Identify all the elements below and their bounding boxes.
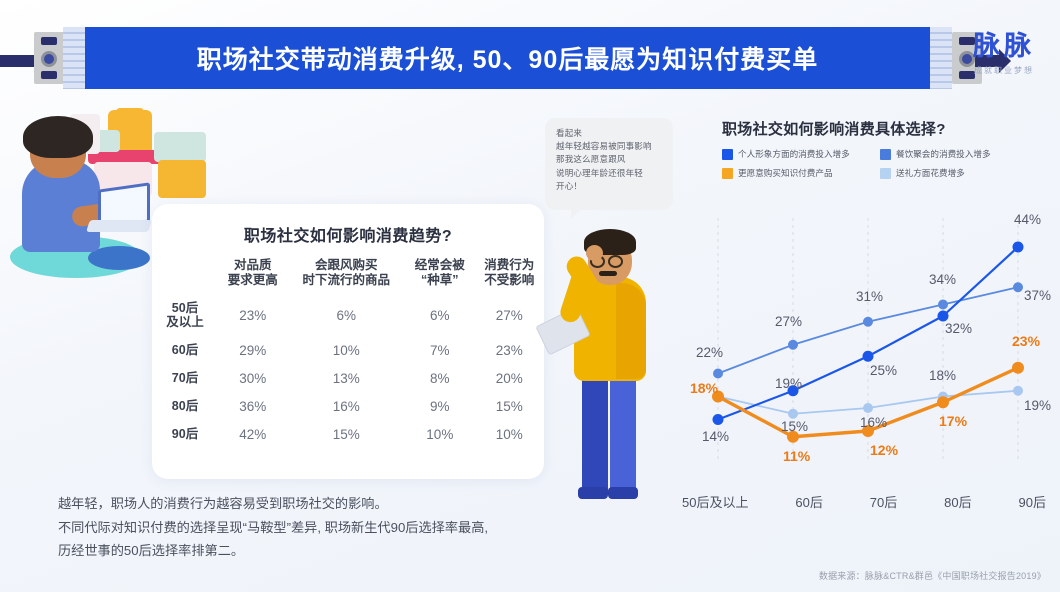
- data-point-label: 19%: [1024, 398, 1051, 413]
- data-point-label: 19%: [775, 376, 802, 391]
- man-leg-left: [582, 370, 608, 498]
- data-point-label: 14%: [702, 429, 729, 444]
- table-cell: 13%: [287, 364, 405, 392]
- legend-label: 送礼方面花费增多: [896, 167, 965, 179]
- table-row-label: 90后: [152, 420, 218, 448]
- legend-swatch-icon: [722, 168, 733, 179]
- person-hair: [23, 116, 93, 158]
- table-cell: 27%: [475, 295, 544, 337]
- chart-series-points: [712, 242, 1024, 443]
- conclusion-line-3: 历经世事的50后选择率排第二。: [58, 539, 628, 563]
- table-cell: 8%: [405, 364, 474, 392]
- table-row: 60后 29% 10% 7% 23%: [152, 336, 544, 364]
- consumption-trend-table: 对品质 要求更高 会跟风购买 时下流行的商品 经常会被 “种草” 消费行为 不受…: [152, 258, 544, 448]
- table-cell: 9%: [405, 392, 474, 420]
- table-cell: 10%: [287, 336, 405, 364]
- data-point-label: 22%: [696, 345, 723, 360]
- data-point-label: 44%: [1014, 212, 1041, 227]
- x-axis-tick: 60后: [795, 492, 822, 511]
- data-point-label: 18%: [929, 368, 956, 383]
- data-source-note: 数据来源：脉脉&CTR&群邑《中国职场社交报告2019》: [819, 569, 1046, 582]
- data-point-label: 18%: [690, 380, 718, 396]
- speech-bubble-text: 看起来 越年轻越容易被同事影响 那我这么愿意跟风 说明心理年龄还很年轻 开心！: [556, 127, 664, 193]
- table-row: 70后 30% 13% 8% 20%: [152, 364, 544, 392]
- x-axis-tick: 70后: [870, 492, 897, 511]
- table-cell: 36%: [218, 392, 287, 420]
- consumption-trend-table-card: 职场社交如何影响消费趋势? 对品质 要求更高 会跟风购买 时下流行的商品 经常会…: [152, 204, 544, 479]
- legend-swatch-icon: [880, 168, 891, 179]
- data-point-label: 32%: [945, 321, 972, 336]
- table-cell: 10%: [475, 420, 544, 448]
- legend-label: 更愿意购买知识付费产品: [738, 167, 833, 179]
- legend-swatch-icon: [722, 149, 733, 160]
- conclusion-line-2: 不同代际对知识付费的选择呈现“马鞍型”差异, 职场新生代90后选择率最高,: [58, 516, 628, 540]
- data-point-label: 37%: [1024, 288, 1051, 303]
- logo-tagline: 成就职业梦想: [956, 65, 1052, 76]
- chart-legend: 个人形象方面的消费投入增多 餐饮聚会的消费投入增多 更愿意购买知识付费产品 送礼…: [722, 148, 1052, 179]
- banner-bar: 职场社交带动消费升级, 50、90后最愿为知识付费买单: [85, 27, 930, 89]
- table-cell: 6%: [405, 295, 474, 337]
- legend-item-personal-image: 个人形象方面的消费投入增多: [722, 148, 880, 160]
- x-axis-tick: 90后: [1019, 492, 1046, 511]
- legend-label: 餐饮聚会的消费投入增多: [896, 148, 991, 160]
- x-axis-tick: 80后: [944, 492, 971, 511]
- line-chart: 15%16%18%19%22%27%31%34%37%14%19%25%32%4…: [676, 196, 1052, 526]
- ribbon-fold-right: [930, 27, 952, 89]
- table-row-label: 60后: [152, 336, 218, 364]
- data-point-label: 31%: [856, 289, 883, 304]
- table-cell: 7%: [405, 336, 474, 364]
- table-col-header-2: 经常会被 “种草”: [405, 258, 474, 295]
- table-row-label: 70后: [152, 364, 218, 392]
- brand-logo: 脉脉 成就职业梦想: [956, 24, 1052, 76]
- table-cell: 42%: [218, 420, 287, 448]
- col-header-line1: 经常会被 “种草”: [407, 258, 472, 289]
- table-cell: 29%: [218, 336, 287, 364]
- x-axis-tick: 50后及以上: [682, 492, 748, 511]
- data-point-label: 12%: [870, 442, 898, 458]
- data-point-label: 25%: [870, 363, 897, 378]
- col-header-line1: 对品质 要求更高: [220, 258, 285, 289]
- data-point-label: 27%: [775, 314, 802, 329]
- legend-item-knowledge-payment: 更愿意购买知识付费产品: [722, 167, 880, 179]
- data-point-label: 17%: [939, 413, 967, 429]
- table-header-row: 对品质 要求更高 会跟风购买 时下流行的商品 经常会被 “种草” 消费行为 不受…: [152, 258, 544, 295]
- glasses-icon: [608, 255, 623, 268]
- table-col-header-1: 会跟风购买 时下流行的商品: [287, 258, 405, 295]
- table-cell: 20%: [475, 364, 544, 392]
- conclusion-text: 越年轻，职场人的消费行为越容易受到职场社交的影响。 不同代际对知识付费的选择呈现…: [58, 492, 628, 563]
- speech-bubble: 看起来 越年轻越容易被同事影响 那我这么愿意跟风 说明心理年龄还很年轻 开心！: [545, 118, 673, 210]
- table-cell: 23%: [475, 336, 544, 364]
- infographic-page: 职场社交带动消费升级, 50、90后最愿为知识付费买单 脉脉 成就职业梦想: [0, 0, 1060, 592]
- table-cell: 10%: [405, 420, 474, 448]
- table-cell: 15%: [475, 392, 544, 420]
- page-title: 职场社交带动消费升级, 50、90后最愿为知识付费买单: [197, 40, 819, 76]
- man-body-shade: [616, 283, 646, 379]
- legend-item-dining: 餐饮聚会的消费投入增多: [880, 148, 1052, 160]
- table-cell: 6%: [287, 295, 405, 337]
- chart-title: 职场社交如何影响消费具体选择?: [722, 118, 946, 139]
- ribbon-fold-left: [63, 27, 85, 89]
- table-cell: 15%: [287, 420, 405, 448]
- header-banner: 职场社交带动消费升级, 50、90后最愿为知识付费买单: [0, 18, 1060, 96]
- table-col-header-0: 对品质 要求更高: [218, 258, 287, 295]
- legend-swatch-icon: [880, 149, 891, 160]
- data-point-label: 15%: [781, 419, 808, 434]
- conclusion-line-1: 越年轻，职场人的消费行为越容易受到职场社交的影响。: [58, 492, 628, 516]
- man-hand: [586, 245, 603, 261]
- table-corner-cell: [152, 258, 218, 295]
- table-title: 职场社交如何影响消费趋势?: [152, 222, 544, 246]
- data-point-label: 16%: [860, 415, 887, 430]
- man-mustache: [599, 271, 617, 276]
- table-cell: 23%: [218, 295, 287, 337]
- table-row: 80后 36% 16% 9% 15%: [152, 392, 544, 420]
- table-row: 50后 及以上 23% 6% 6% 27%: [152, 295, 544, 337]
- legend-label: 个人形象方面的消费投入增多: [738, 148, 850, 160]
- logo-name: 脉脉: [956, 24, 1052, 63]
- illustration-man-with-tablet: [538, 215, 668, 500]
- table-row: 90后 42% 15% 10% 10%: [152, 420, 544, 448]
- man-leg-right: [610, 370, 636, 498]
- table-cell: 30%: [218, 364, 287, 392]
- chart-svg: [676, 196, 1052, 496]
- ribbon-knob-left-icon: [41, 51, 57, 67]
- laptop-base-icon: [86, 220, 152, 232]
- table-col-header-3: 消费行为 不受影响: [475, 258, 544, 295]
- col-header-line1: 会跟风购买 时下流行的商品: [289, 258, 403, 289]
- data-point-label: 11%: [783, 448, 810, 464]
- data-point-label: 23%: [1012, 333, 1040, 349]
- data-point-label: 34%: [929, 272, 956, 287]
- col-header-line1: 消费行为 不受影响: [477, 258, 542, 289]
- legend-item-gifting: 送礼方面花费增多: [880, 167, 1052, 179]
- table-cell: 16%: [287, 392, 405, 420]
- table-row-label: 50后 及以上: [152, 295, 218, 337]
- chart-x-axis-labels: 50后及以上 60后 70后 80后 90后: [676, 492, 1052, 511]
- table-row-label: 80后: [152, 392, 218, 420]
